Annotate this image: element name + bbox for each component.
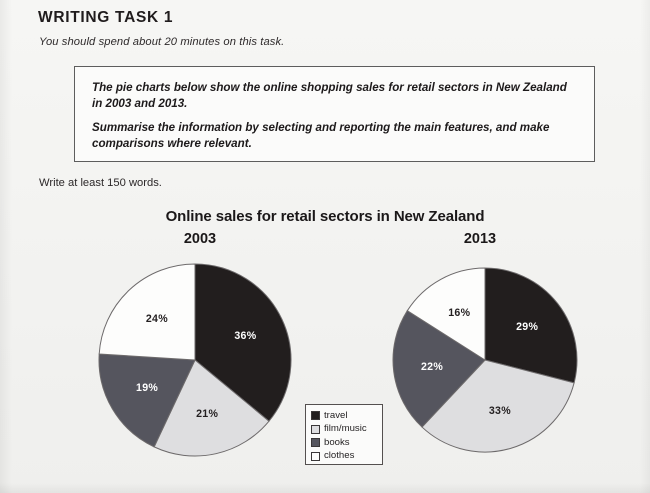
legend-label: film/music <box>324 424 367 434</box>
pie-label-clothes: 16% <box>448 307 470 319</box>
legend-label: clothes <box>324 451 354 461</box>
legend-label: travel <box>324 411 347 421</box>
pie-label-travel: 29% <box>516 321 538 333</box>
prompt-paragraph-1: The pie charts below show the online sho… <box>92 80 576 111</box>
task-instruction-subtitle: You should spend about 20 minutes on thi… <box>39 36 284 48</box>
legend-item-film-music: film/music <box>311 423 382 436</box>
legend-swatch-icon <box>311 425 320 434</box>
pie-label-travel: 36% <box>234 330 256 342</box>
pie-label-books: 22% <box>421 361 443 373</box>
pie-svg <box>98 263 292 457</box>
word-requirement-text: Write at least 150 words. <box>39 177 162 189</box>
pie-label-clothes: 24% <box>146 313 168 325</box>
pie-label-film-music: 21% <box>196 408 218 420</box>
chart-legend: travelfilm/musicbooksclothes <box>305 404 383 465</box>
pie-label-books: 19% <box>136 382 158 394</box>
chart-title: Online sales for retail sectors in New Z… <box>0 208 650 225</box>
document-page: WRITING TASK 1 You should spend about 20… <box>0 0 650 493</box>
legend-label: books <box>324 438 350 448</box>
pie-label-film-music: 33% <box>489 405 511 417</box>
chart-year-label-2013: 2013 <box>440 231 520 247</box>
prompt-box: The pie charts below show the online sho… <box>74 66 595 162</box>
prompt-paragraph-2: Summarise the information by selecting a… <box>92 120 576 151</box>
pie-chart-2003: 36%21%19%24% <box>98 263 292 457</box>
pie-svg <box>392 267 578 453</box>
legend-item-travel: travel <box>311 409 382 422</box>
legend-swatch-icon <box>311 438 320 447</box>
page-title: WRITING TASK 1 <box>38 9 173 27</box>
legend-swatch-icon <box>311 452 320 461</box>
pie-chart-2013: 29%33%22%16% <box>392 267 578 453</box>
legend-swatch-icon <box>311 411 320 420</box>
pie-slice-clothes <box>99 264 195 360</box>
legend-item-books: books <box>311 436 382 449</box>
legend-item-clothes: clothes <box>311 450 382 463</box>
chart-year-label-2003: 2003 <box>160 231 240 247</box>
